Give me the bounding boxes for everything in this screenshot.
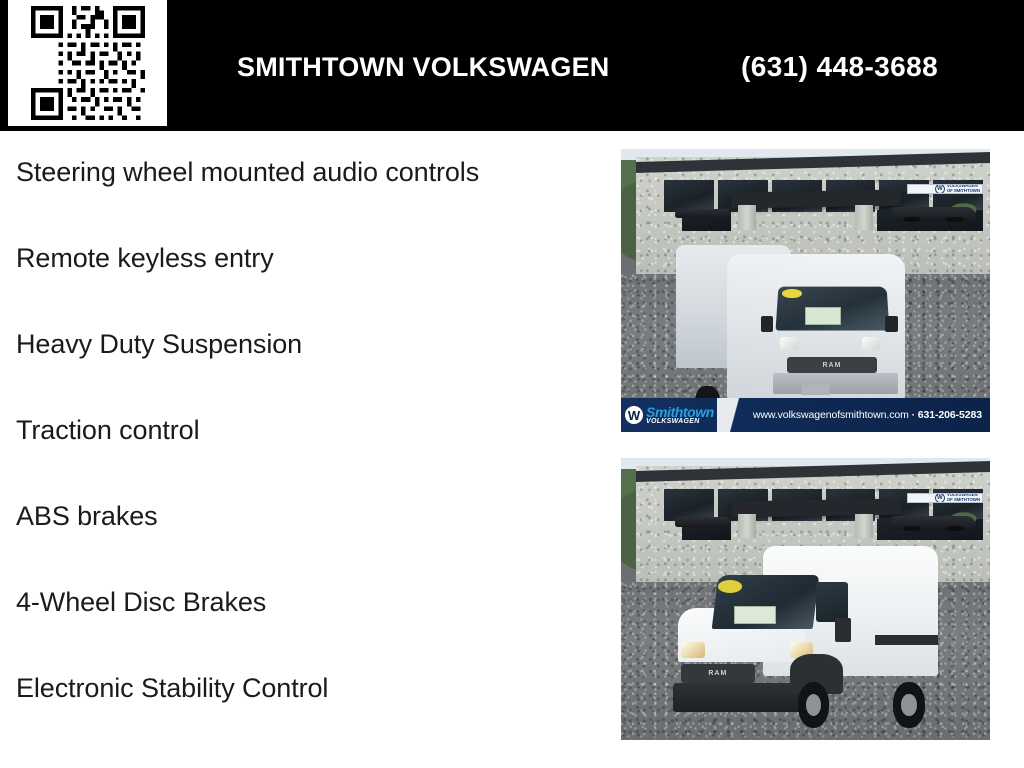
vw-logo-icon bbox=[935, 184, 945, 194]
entrance-canopy bbox=[731, 498, 901, 517]
list-item: Remote keyless entry bbox=[16, 241, 576, 276]
year-sticker bbox=[782, 289, 802, 298]
watermark-logo: Smithtown VOLKSWAGEN bbox=[621, 405, 714, 425]
vw-logo-icon bbox=[935, 493, 945, 503]
dealership-sign: VOLKSWAGEN OF SMITHTOWN bbox=[907, 184, 983, 195]
front-grille: RAM bbox=[681, 664, 755, 684]
ram-promaster-van: RAM bbox=[673, 543, 939, 723]
vehicle-photo-front[interactable]: VOLKSWAGEN OF SMITHTOWN RAM bbox=[621, 149, 990, 432]
side-mirror bbox=[835, 618, 851, 641]
page-header: SMITHTOWN VOLKSWAGEN (631) 448-3688 bbox=[0, 0, 1024, 131]
wheel bbox=[893, 682, 925, 729]
list-item: ABS brakes bbox=[16, 499, 576, 534]
year-sticker bbox=[718, 580, 742, 593]
list-item: 4-Wheel Disc Brakes bbox=[16, 585, 576, 620]
feature-list: Steering wheel mounted audio controls Re… bbox=[16, 155, 576, 757]
canopy-column bbox=[738, 514, 756, 539]
sign-line-2: OF SMITHTOWN bbox=[947, 497, 980, 502]
canopy-column bbox=[855, 514, 873, 539]
ram-badge: RAM bbox=[822, 362, 841, 369]
dealership-sign: VOLKSWAGEN OF SMITHTOWN bbox=[907, 493, 983, 504]
dealership-scene: VOLKSWAGEN OF SMITHTOWN RAM bbox=[621, 149, 990, 432]
background-vehicle bbox=[891, 516, 976, 530]
list-item: Electronic Stability Control bbox=[16, 671, 576, 706]
background-vehicle bbox=[675, 517, 732, 527]
watermark-phone: 631-206-5283 bbox=[918, 409, 982, 421]
window-sticker bbox=[734, 606, 776, 624]
van-lower-trim bbox=[875, 635, 938, 645]
background-vehicle bbox=[891, 207, 976, 221]
headlight bbox=[862, 337, 880, 350]
list-item: Steering wheel mounted audio controls bbox=[16, 155, 486, 190]
list-item: Heavy Duty Suspension bbox=[16, 327, 576, 362]
watermark-contact: www.volkswagenofsmithtown.com · 631-206-… bbox=[753, 409, 990, 421]
list-item: Traction control bbox=[16, 413, 576, 448]
vehicle-photo-three-quarter[interactable]: VOLKSWAGEN OF SMITHTOWN RA bbox=[621, 458, 990, 740]
entrance-canopy bbox=[731, 190, 901, 209]
headlight bbox=[780, 337, 798, 350]
sign-line-2: OF SMITHTOWN bbox=[947, 188, 980, 193]
wheel bbox=[798, 682, 830, 729]
dealer-watermark-banner: Smithtown VOLKSWAGEN www.volkswagenofsmi… bbox=[621, 398, 990, 432]
license-plate-area bbox=[802, 384, 831, 396]
window-sticker bbox=[805, 307, 841, 325]
front-bumper bbox=[773, 373, 898, 394]
canopy-column bbox=[855, 205, 873, 230]
watermark-separator: · bbox=[912, 409, 915, 421]
dealer-name: SMITHTOWN VOLKSWAGEN bbox=[237, 52, 610, 83]
vw-logo-icon bbox=[625, 406, 643, 424]
canopy-column bbox=[738, 205, 756, 230]
van-cab: RAM bbox=[727, 254, 905, 401]
qr-code-panel[interactable] bbox=[8, 0, 167, 126]
front-grille: RAM bbox=[787, 357, 876, 373]
side-mirror bbox=[885, 316, 897, 332]
ram-promaster-van: RAM bbox=[676, 245, 905, 420]
headlight bbox=[681, 642, 705, 658]
background-vehicle bbox=[675, 209, 732, 219]
dealership-scene: VOLKSWAGEN OF SMITHTOWN RA bbox=[621, 458, 990, 740]
side-window bbox=[816, 582, 848, 622]
banner-swoosh bbox=[717, 398, 757, 432]
watermark-website: www.volkswagenofsmithtown.com bbox=[753, 409, 909, 421]
watermark-brand-script: Smithtown bbox=[646, 405, 714, 419]
qr-code-icon bbox=[31, 6, 145, 120]
dealer-phone[interactable]: (631) 448-3688 bbox=[741, 51, 938, 83]
side-mirror bbox=[761, 316, 773, 332]
ram-badge: RAM bbox=[708, 670, 727, 677]
